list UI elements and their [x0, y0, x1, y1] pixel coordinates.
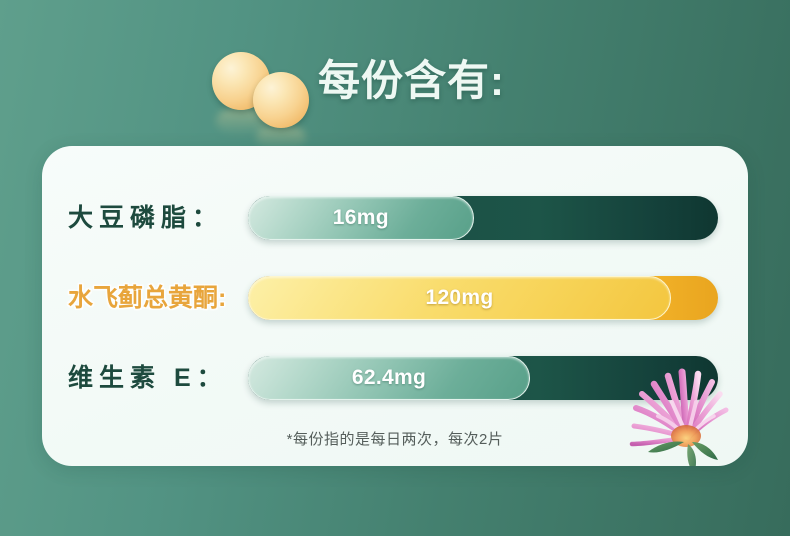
header: 每份含有: — [0, 46, 790, 142]
promo-panel: 每份含有: 大豆磷脂： 16mg 水飞蓟总黄酮: 120mg 维生素 E： — [0, 0, 790, 536]
page-title: 每份含有: — [318, 60, 505, 102]
nutrient-value: 120mg — [425, 286, 493, 310]
nutrient-value: 62.4mg — [352, 366, 426, 390]
sphere-right — [253, 72, 309, 128]
nutrient-label: 维生素 E： — [68, 356, 228, 400]
nutrient-bar-track: 16mg — [248, 196, 718, 240]
nutrition-card: 大豆磷脂： 16mg 水飞蓟总黄酮: 120mg 维生素 E： 62.4mg — [42, 146, 748, 466]
nutrient-bar-track: 120mg — [248, 276, 718, 320]
nutrient-label: 水飞蓟总黄酮: — [68, 276, 226, 320]
nutrient-bar-fill: 120mg — [248, 276, 671, 320]
capsule-spheres-icon — [210, 50, 316, 142]
nutrient-label: 大豆磷脂： — [68, 196, 223, 240]
footnote-text: *每份指的是每日两次，每次2片 — [42, 428, 748, 449]
nutrient-bar-fill: 16mg — [248, 196, 474, 240]
nutrient-bar-fill: 62.4mg — [248, 356, 530, 400]
nutrient-row: 水飞蓟总黄酮: 120mg — [42, 276, 748, 320]
nutrient-row: 大豆磷脂： 16mg — [42, 196, 748, 240]
nutrient-value: 16mg — [333, 206, 389, 230]
nutrient-bar-track: 62.4mg — [248, 356, 718, 400]
nutrient-row: 维生素 E： 62.4mg — [42, 356, 748, 400]
